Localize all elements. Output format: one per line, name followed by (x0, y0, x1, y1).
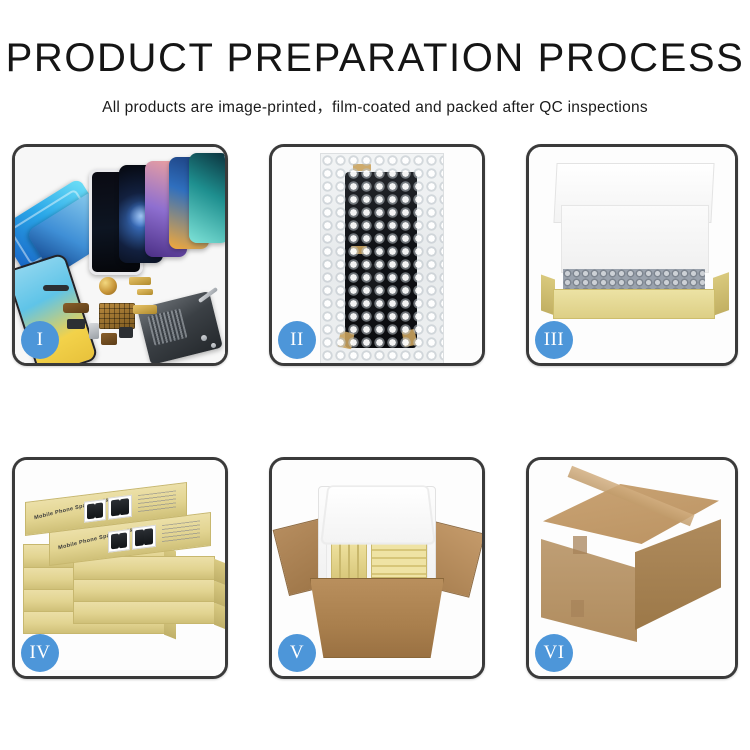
step-badge-2: II (278, 321, 316, 359)
vibration-motor-part (99, 277, 117, 295)
flex-cable-gold-2 (137, 289, 153, 295)
battery-connector (119, 327, 133, 338)
box-label-image-a1 (84, 499, 106, 523)
bubble-wrap-bag (320, 153, 444, 363)
screw-part-1 (201, 335, 207, 341)
box-label-speclist-2 (162, 520, 200, 544)
screw-part-2 (211, 343, 216, 348)
bga-chip-array (99, 303, 135, 329)
box-label-speclist-1 (138, 490, 176, 514)
stacked-box-right-1 (73, 600, 215, 624)
carton-seam-lower (571, 600, 584, 617)
flex-cable-gold-1 (129, 277, 151, 285)
foam-sheet (561, 205, 709, 273)
step-badge-1: I (21, 321, 59, 359)
step-panel-6: VI (526, 457, 738, 679)
phone-teal-gradient (189, 153, 225, 243)
carton-body (310, 578, 444, 658)
process-steps-grid: I II (12, 144, 739, 679)
step-panel-2: II (269, 144, 485, 366)
step-panel-5: V (269, 457, 485, 679)
connector-gold (133, 305, 157, 314)
page-title: PRODUCT PREPARATION PROCESS (0, 38, 750, 78)
speaker-part (43, 285, 69, 291)
box-label-image-b2 (132, 525, 156, 550)
box-side-right (713, 272, 729, 316)
flex-cable-brown (63, 303, 89, 313)
carton-seam-upper (573, 536, 587, 554)
step-badge-6: VI (535, 634, 573, 672)
page-subtitle: All products are image-printed，film-coat… (0, 95, 750, 117)
bubble-texture (321, 154, 443, 363)
step-badge-4: IV (21, 634, 59, 672)
step-badge-3: III (535, 321, 573, 359)
box-label-image-b1 (108, 495, 132, 520)
box-front-panel (553, 289, 715, 319)
stacked-box-right-2 (73, 578, 215, 602)
product-preparation-infographic: PRODUCT PREPARATION PROCESS All products… (0, 0, 750, 750)
header: PRODUCT PREPARATION PROCESS All products… (0, 0, 750, 117)
sim-tray (89, 323, 99, 339)
step-panel-1: I (12, 144, 228, 366)
step-panel-3: III (526, 144, 738, 366)
buzzer-part (101, 333, 117, 345)
carton-front-face (541, 530, 637, 642)
foam-lid-open (320, 485, 436, 544)
step-panel-4: Mobile Phone Spare Parts Mobile Phone Sp… (12, 457, 228, 679)
box-label-image-a2 (108, 529, 130, 553)
camera-module (67, 319, 85, 329)
step-badge-5: V (278, 634, 316, 672)
